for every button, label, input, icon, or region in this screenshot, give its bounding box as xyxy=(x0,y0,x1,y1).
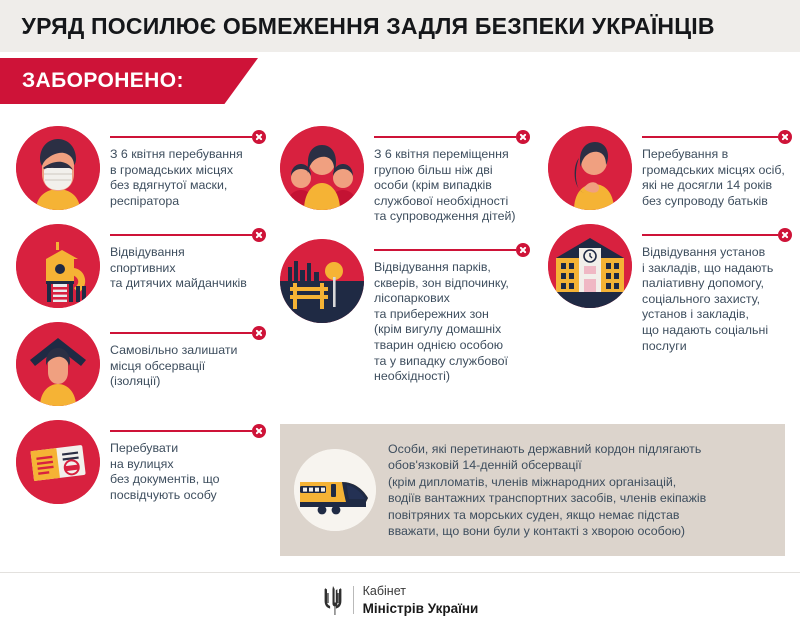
close-x-icon xyxy=(252,130,266,144)
passport-documents-icon xyxy=(16,420,100,504)
item-body: Відвідування установ і закладів, що нада… xyxy=(632,224,792,354)
close-x-icon xyxy=(516,130,530,144)
child-person-icon xyxy=(548,126,632,210)
restriction-text: Відвідування установ і закладів, що нада… xyxy=(642,245,792,354)
page-title: УРЯД ПОСИЛЮЄ ОБМЕЖЕННЯ ЗАДЛЯ БЕЗПЕКИ УКР… xyxy=(0,13,715,40)
institution-building-icon xyxy=(548,224,632,308)
footer-line-1: Кабінет xyxy=(363,584,406,598)
item-body: Самовільно залишати місця обсервації (із… xyxy=(100,322,266,390)
rule-with-x xyxy=(642,228,792,242)
rule-line xyxy=(110,430,252,432)
rule-line xyxy=(642,234,778,236)
restriction-item: Перебування в громадських місцях осіб, я… xyxy=(548,126,792,210)
item-body: Відвідування парків, скверів, зон відпоч… xyxy=(364,239,530,385)
ukraine-trident-icon xyxy=(322,585,344,615)
rule-with-x xyxy=(110,228,266,242)
rule-with-x xyxy=(110,424,266,438)
footer-divider xyxy=(353,586,354,614)
playground-icon xyxy=(16,224,100,308)
close-x-icon xyxy=(778,130,792,144)
restriction-text: З 6 квітня перебування в громадських міс… xyxy=(110,147,266,209)
train-icon xyxy=(294,449,376,531)
park-bench-icon xyxy=(280,239,364,323)
restriction-item: Самовільно залишати місця обсервації (із… xyxy=(16,322,266,406)
person-face-mask-icon xyxy=(16,126,100,210)
footer: Кабінет Міністрів України xyxy=(0,572,800,627)
infographic-page: УРЯД ПОСИЛЮЄ ОБМЕЖЕННЯ ЗАДЛЯ БЕЗПЕКИ УКР… xyxy=(0,0,800,627)
rule-with-x xyxy=(374,243,530,257)
restriction-text: Самовільно залишати місця обсервації (із… xyxy=(110,343,266,390)
item-body: З 6 квітня переміщення групою більш ніж … xyxy=(364,126,530,225)
restriction-item: Відвідування установ і закладів, що нада… xyxy=(548,224,792,354)
footer-logo-lockup: Кабінет Міністрів України xyxy=(322,582,479,618)
restriction-text: З 6 квітня переміщення групою більш ніж … xyxy=(374,147,530,225)
column-center: З 6 квітня переміщення групою більш ніж … xyxy=(280,126,530,385)
restriction-text: Перебування в громадських місцях осіб, я… xyxy=(642,147,792,209)
note-text: Особи, які перетинають державний кордон … xyxy=(376,441,785,540)
close-x-icon xyxy=(252,228,266,242)
rule-with-x xyxy=(374,130,530,144)
rule-with-x xyxy=(642,130,792,144)
restriction-text: Відвідування парків, скверів, зон відпоч… xyxy=(374,260,530,385)
item-body: Перебувати на вулицях без документів, що… xyxy=(100,420,266,503)
border-crossing-note-panel: Особи, які перетинають державний кордон … xyxy=(280,424,785,556)
rule-line xyxy=(642,136,778,138)
footer-lines: Кабінет Міністрів України xyxy=(363,582,479,618)
rule-line xyxy=(374,136,516,138)
column-left: З 6 квітня перебування в громадських міс… xyxy=(16,126,266,504)
header-band: УРЯД ПОСИЛЮЄ ОБМЕЖЕННЯ ЗАДЛЯ БЕЗПЕКИ УКР… xyxy=(0,0,800,52)
close-x-icon xyxy=(516,243,530,257)
close-x-icon xyxy=(252,326,266,340)
forbidden-banner: ЗАБОРОНЕНО: xyxy=(0,58,258,104)
item-body: З 6 квітня перебування в громадських міс… xyxy=(100,126,266,209)
close-x-icon xyxy=(778,228,792,242)
item-body: Перебування в громадських місцях осіб, я… xyxy=(632,126,792,209)
restriction-item: З 6 квітня переміщення групою більш ніж … xyxy=(280,126,530,225)
restriction-item: Відвідування спортивних та дитячих майда… xyxy=(16,224,266,308)
restriction-item: Перебувати на вулицях без документів, що… xyxy=(16,420,266,504)
restriction-item: З 6 квітня перебування в громадських міс… xyxy=(16,126,266,210)
person-under-roof-icon xyxy=(16,322,100,406)
rule-with-x xyxy=(110,130,266,144)
restriction-text: Відвідування спортивних та дитячих майда… xyxy=(110,245,266,292)
restriction-text: Перебувати на вулицях без документів, що… xyxy=(110,441,266,503)
banner-shape: ЗАБОРОНЕНО: xyxy=(0,58,258,104)
column-right: Перебування в громадських місцях осіб, я… xyxy=(548,126,792,354)
item-body: Відвідування спортивних та дитячих майда… xyxy=(100,224,266,292)
rule-line xyxy=(110,332,252,334)
rule-line xyxy=(374,249,516,251)
close-x-icon xyxy=(252,424,266,438)
rule-with-x xyxy=(110,326,266,340)
banner-label: ЗАБОРОНЕНО: xyxy=(0,69,184,93)
restriction-item: Відвідування парків, скверів, зон відпоч… xyxy=(280,239,530,385)
footer-line-2: Міністрів України xyxy=(363,601,479,616)
rule-line xyxy=(110,234,252,236)
family-group-icon xyxy=(280,126,364,210)
rule-line xyxy=(110,136,252,138)
